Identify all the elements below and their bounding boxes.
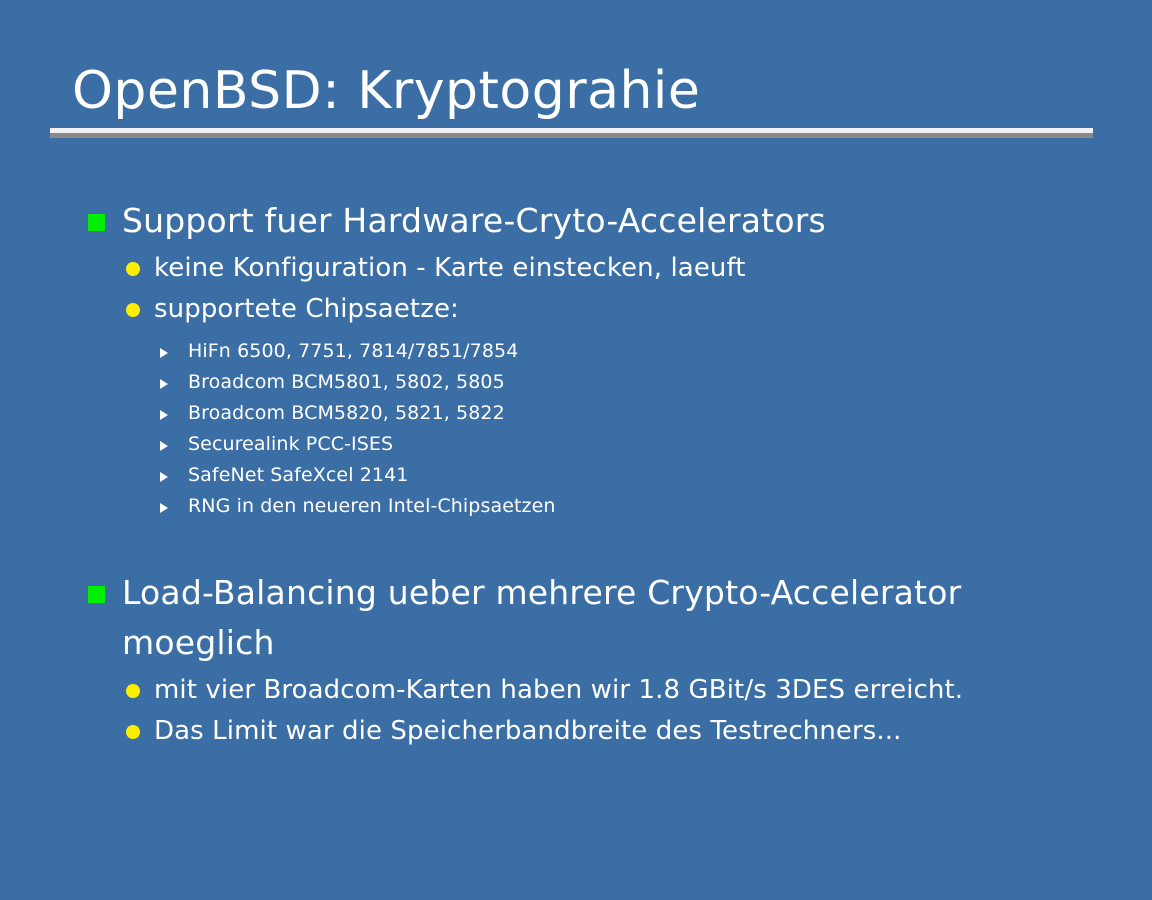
slide-body: Support fuer Hardware-Cryto-Accelerators… — [84, 196, 1094, 752]
triangle-bullet-icon — [160, 348, 168, 358]
list-item-level3-label: RNG in den neueren Intel-Chipsaetzen — [188, 495, 556, 517]
disc-bullet-icon — [126, 262, 140, 276]
page-title: OpenBSD: Kryptograhie — [50, 60, 1095, 122]
disc-bullet-icon — [126, 684, 140, 698]
triangle-bullet-icon — [160, 503, 168, 513]
outline-section: Load-Balancing ueber mehrere Crypto-Acce… — [84, 568, 1094, 752]
title-divider — [50, 128, 1093, 138]
list-item-level1: Support fuer Hardware-Cryto-Accelerators — [84, 196, 1094, 246]
list-item-level3-label: Securealink PCC-ISES — [188, 433, 393, 455]
list-item-level2: keine Konfiguration - Karte einstecken, … — [84, 248, 1094, 289]
list-item-level1-label: Load-Balancing ueber mehrere Crypto-Acce… — [122, 573, 961, 662]
list-item-level3: SafeNet SafeXcel 2141 — [84, 460, 1094, 491]
disc-bullet-icon — [126, 725, 140, 739]
list-item-level2-label: keine Konfiguration - Karte einstecken, … — [154, 253, 746, 283]
triangle-bullet-icon — [160, 410, 168, 420]
list-item-level3: HiFn 6500, 7751, 7814/7851/7854 — [84, 336, 1094, 367]
list-item-level2: mit vier Broadcom-Karten haben wir 1.8 G… — [84, 670, 1094, 711]
square-bullet-icon — [88, 586, 105, 603]
list-item-level2: supportete Chipsaetze: — [84, 289, 1094, 330]
list-item-level1: Load-Balancing ueber mehrere Crypto-Acce… — [84, 568, 1094, 668]
list-item-level3: RNG in den neueren Intel-Chipsaetzen — [84, 491, 1094, 522]
title-block: OpenBSD: Kryptograhie — [50, 60, 1095, 138]
title-divider-shadow — [50, 133, 1093, 138]
list-item-level2-label: mit vier Broadcom-Karten haben wir 1.8 G… — [154, 675, 963, 705]
list-item-level3-label: HiFn 6500, 7751, 7814/7851/7854 — [188, 340, 518, 362]
presentation-slide: OpenBSD: Kryptograhie Support fuer Hardw… — [0, 0, 1152, 900]
list-item-level3: Broadcom BCM5820, 5821, 5822 — [84, 398, 1094, 429]
list-item-level3-label: Broadcom BCM5801, 5802, 5805 — [188, 371, 505, 393]
list-item-level1-label: Support fuer Hardware-Cryto-Accelerators — [122, 201, 826, 240]
list-item-level2-label: Das Limit war die Speicherbandbreite des… — [154, 716, 902, 746]
triangle-bullet-icon — [160, 472, 168, 482]
list-item-level3-label: SafeNet SafeXcel 2141 — [188, 464, 408, 486]
list-item-level2: Das Limit war die Speicherbandbreite des… — [84, 711, 1094, 752]
list-item-level3: Broadcom BCM5801, 5802, 5805 — [84, 367, 1094, 398]
list-item-level3-label: Broadcom BCM5820, 5821, 5822 — [188, 402, 505, 424]
triangle-bullet-icon — [160, 441, 168, 451]
list-item-level3: Securealink PCC-ISES — [84, 429, 1094, 460]
section-spacer — [84, 522, 1094, 568]
outline-section: Support fuer Hardware-Cryto-Accelerators… — [84, 196, 1094, 522]
square-bullet-icon — [88, 214, 105, 231]
disc-bullet-icon — [126, 303, 140, 317]
triangle-bullet-icon — [160, 379, 168, 389]
list-item-level2-label: supportete Chipsaetze: — [154, 294, 459, 324]
